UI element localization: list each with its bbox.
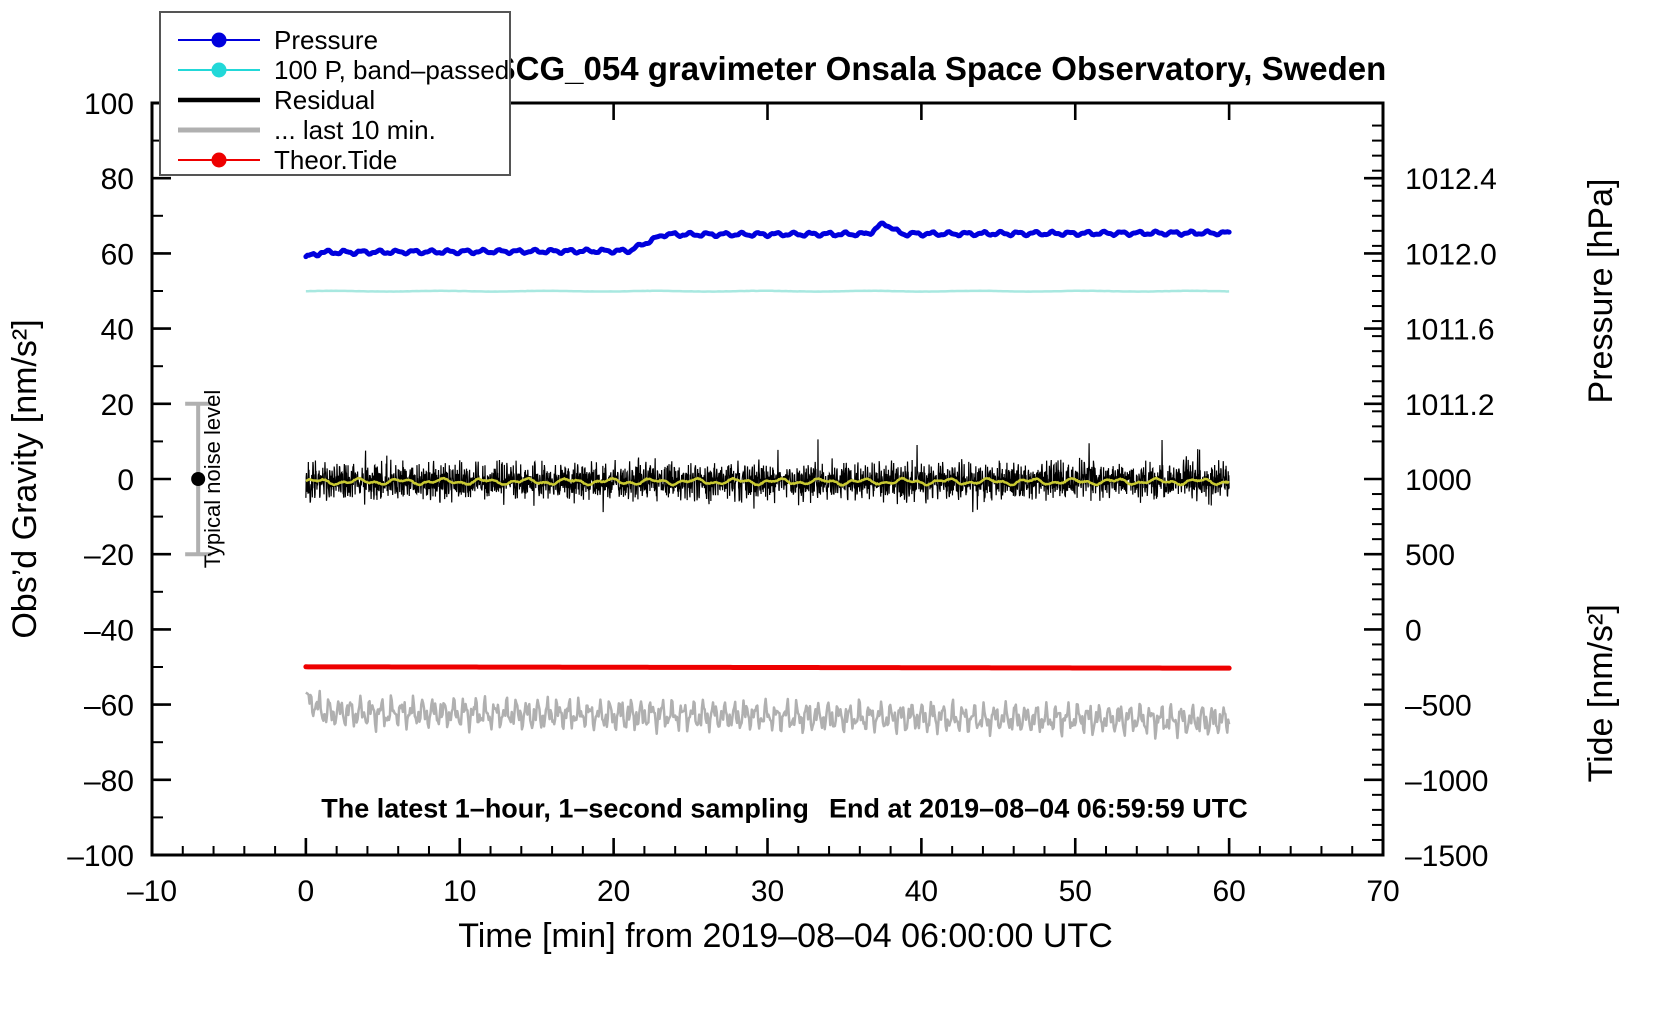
tide-axis-tick-labels: –1500–1000–50005001000 [1405, 464, 1488, 873]
tide-tick-label: 500 [1405, 539, 1455, 572]
y-tick-label: –100 [67, 840, 134, 873]
y-tick-label: –40 [84, 614, 134, 647]
trace-theoretical-tide [306, 667, 1229, 668]
x-tick-label: 30 [751, 875, 784, 908]
trace-residual [306, 439, 1229, 512]
x-tick-label: 40 [905, 875, 938, 908]
legend-label-3: Residual [274, 85, 375, 115]
pressure-tick-label: 1011.2 [1405, 389, 1495, 422]
y-tick-label: –20 [84, 539, 134, 572]
legend-marker-2 [212, 63, 227, 78]
y-tick-label: 20 [101, 389, 134, 422]
pressure-axis-tick-labels: 1011.21011.61012.01012.4 [1405, 163, 1497, 422]
y-axis-ticks [152, 103, 171, 855]
y-tick-label: –80 [84, 765, 134, 798]
legend-marker-1 [212, 33, 227, 48]
legend-label-5: Theor.Tide [274, 145, 397, 175]
trace-band-passed-pressure [306, 291, 1229, 292]
pressure-tick-label: 1012.0 [1405, 238, 1497, 271]
x-tick-label: 70 [1366, 875, 1399, 908]
data-traces [306, 223, 1229, 739]
pressure-tick-label: 1012.4 [1405, 163, 1497, 196]
end-time-note: End at 2019–08–04 06:59:59 UTC [829, 793, 1248, 823]
legend-label-1: Pressure [274, 25, 378, 55]
y-tick-label: 0 [117, 464, 134, 497]
y-tick-label: 80 [101, 163, 134, 196]
x-tick-label: 60 [1212, 875, 1245, 908]
trace-last-10-min [306, 691, 1229, 739]
x-tick-label: 50 [1059, 875, 1092, 908]
chart-title: SCG_054 gravimeter Onsala Space Observat… [494, 50, 1387, 87]
typical-noise-level-annotation: Typical noise level [185, 390, 225, 569]
y-tick-label: 60 [101, 238, 134, 271]
chart-legend[interactable]: Pressure100 P, band–passedResidual... la… [160, 12, 510, 175]
chart-canvas: –10010203040506070 –100–80–60–40–2002040… [0, 0, 1660, 1020]
sampling-note: The latest 1–hour, 1–second sampling [321, 793, 809, 823]
tide-tick-label: 0 [1405, 614, 1422, 647]
x-tick-label: 20 [597, 875, 630, 908]
pressure-tick-label: 1011.6 [1405, 314, 1495, 347]
tide-tick-label: –1000 [1405, 765, 1488, 798]
pressure-axis-ticks [1364, 126, 1383, 442]
tide-tick-label: –1500 [1405, 840, 1488, 873]
tide-tick-label: 1000 [1405, 464, 1472, 497]
noise-level-label: Typical noise level [200, 390, 225, 569]
trace-pressure [306, 223, 1229, 257]
y-axis-title: Obs’d Gravity [nm/s²] [6, 319, 44, 638]
x-tick-label: 10 [443, 875, 476, 908]
y-tick-label: 100 [84, 88, 134, 121]
x-axis-tick-labels: –10010203040506070 [127, 875, 1400, 908]
x-axis-title: Time [min] from 2019–08–04 06:00:00 UTC [458, 917, 1113, 955]
y-tick-label: 40 [101, 314, 134, 347]
y-axis-tick-labels: –100–80–60–40–20020406080100 [67, 88, 134, 873]
x-tick-label: –10 [127, 875, 177, 908]
legend-label-2: 100 P, band–passed [274, 55, 509, 85]
x-tick-label: 0 [298, 875, 315, 908]
legend-marker-5 [212, 153, 227, 168]
tide-axis-title: Tide [nm/s²] [1582, 604, 1620, 782]
y-tick-label: –60 [84, 690, 134, 723]
pressure-axis-title: Pressure [hPa] [1582, 179, 1620, 404]
tide-axis-ticks [1364, 479, 1383, 855]
gravimeter-chart-figure: –10010203040506070 –100–80–60–40–2002040… [0, 0, 1660, 1020]
legend-label-4: ... last 10 min. [274, 115, 436, 145]
tide-tick-label: –500 [1405, 690, 1472, 723]
